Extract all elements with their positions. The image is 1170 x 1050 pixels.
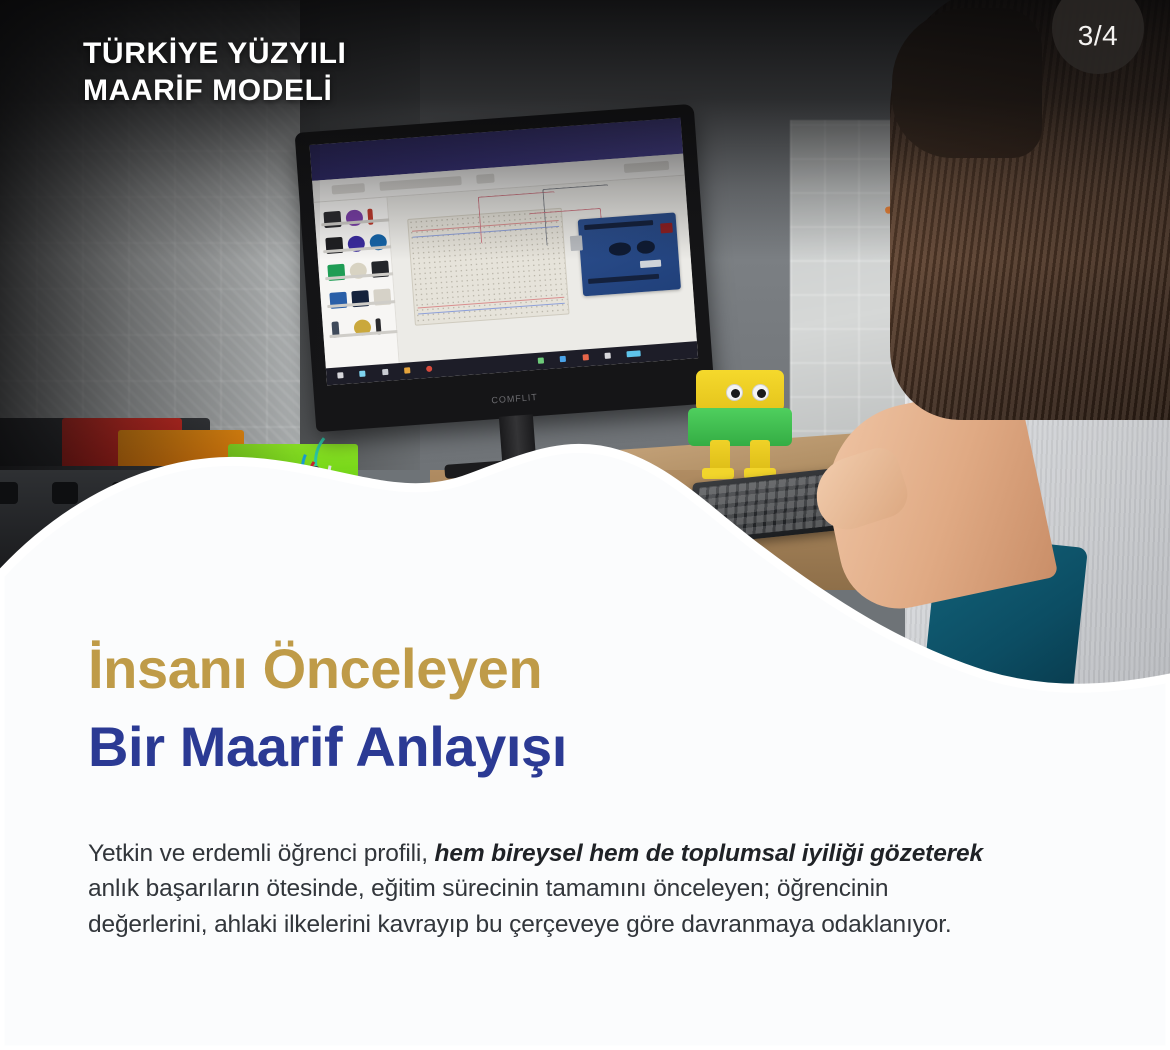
taskbar-icon [538,357,544,363]
robot-eye-right [752,384,769,401]
taskbar-icon [404,367,410,373]
body-emphasis: hem bireysel hem de toplumsal iyiliği gö… [435,840,983,867]
taskbar-icon [560,355,566,361]
brand-logo-line-2: MAARİF MODELİ [83,73,346,110]
taskbar-icon [426,365,432,371]
component-label [329,333,353,338]
arduino-label [640,260,662,268]
headline-line-1: İnsanı Önceleyen [88,636,542,701]
component-label [375,330,399,335]
taskbar-icon [627,350,641,357]
headline-line-2: Bir Maarif Anlayışı [88,714,567,779]
arduino-header-bottom [588,274,659,284]
taskbar-icon [360,370,366,376]
robot-eye-left [726,384,743,401]
component-label [353,331,377,336]
taskbar-icon [604,352,610,358]
page-counter-label: 3/4 [1078,4,1118,52]
slide-card: COMFLIT [0,0,1170,1050]
breadboard-ground-rail [418,303,564,315]
taskbar-icon [382,368,388,374]
taskbar-icon [582,354,588,360]
body-paragraph: Yetkin ve erdemli öğrenci profili, hem b… [88,836,988,942]
brand-logo: TÜRKİYE YÜZYILI MAARİF MODELİ [83,36,346,110]
brand-logo-line-1: TÜRKİYE YÜZYILI [83,36,346,73]
body-segment-1: Yetkin ve erdemli öğrenci profili, [88,840,435,867]
breadboard-power-rail [418,297,564,309]
taskbar-icon [337,372,343,378]
body-segment-2: anlık başarıların ötesinde, eğitim sürec… [88,875,952,937]
